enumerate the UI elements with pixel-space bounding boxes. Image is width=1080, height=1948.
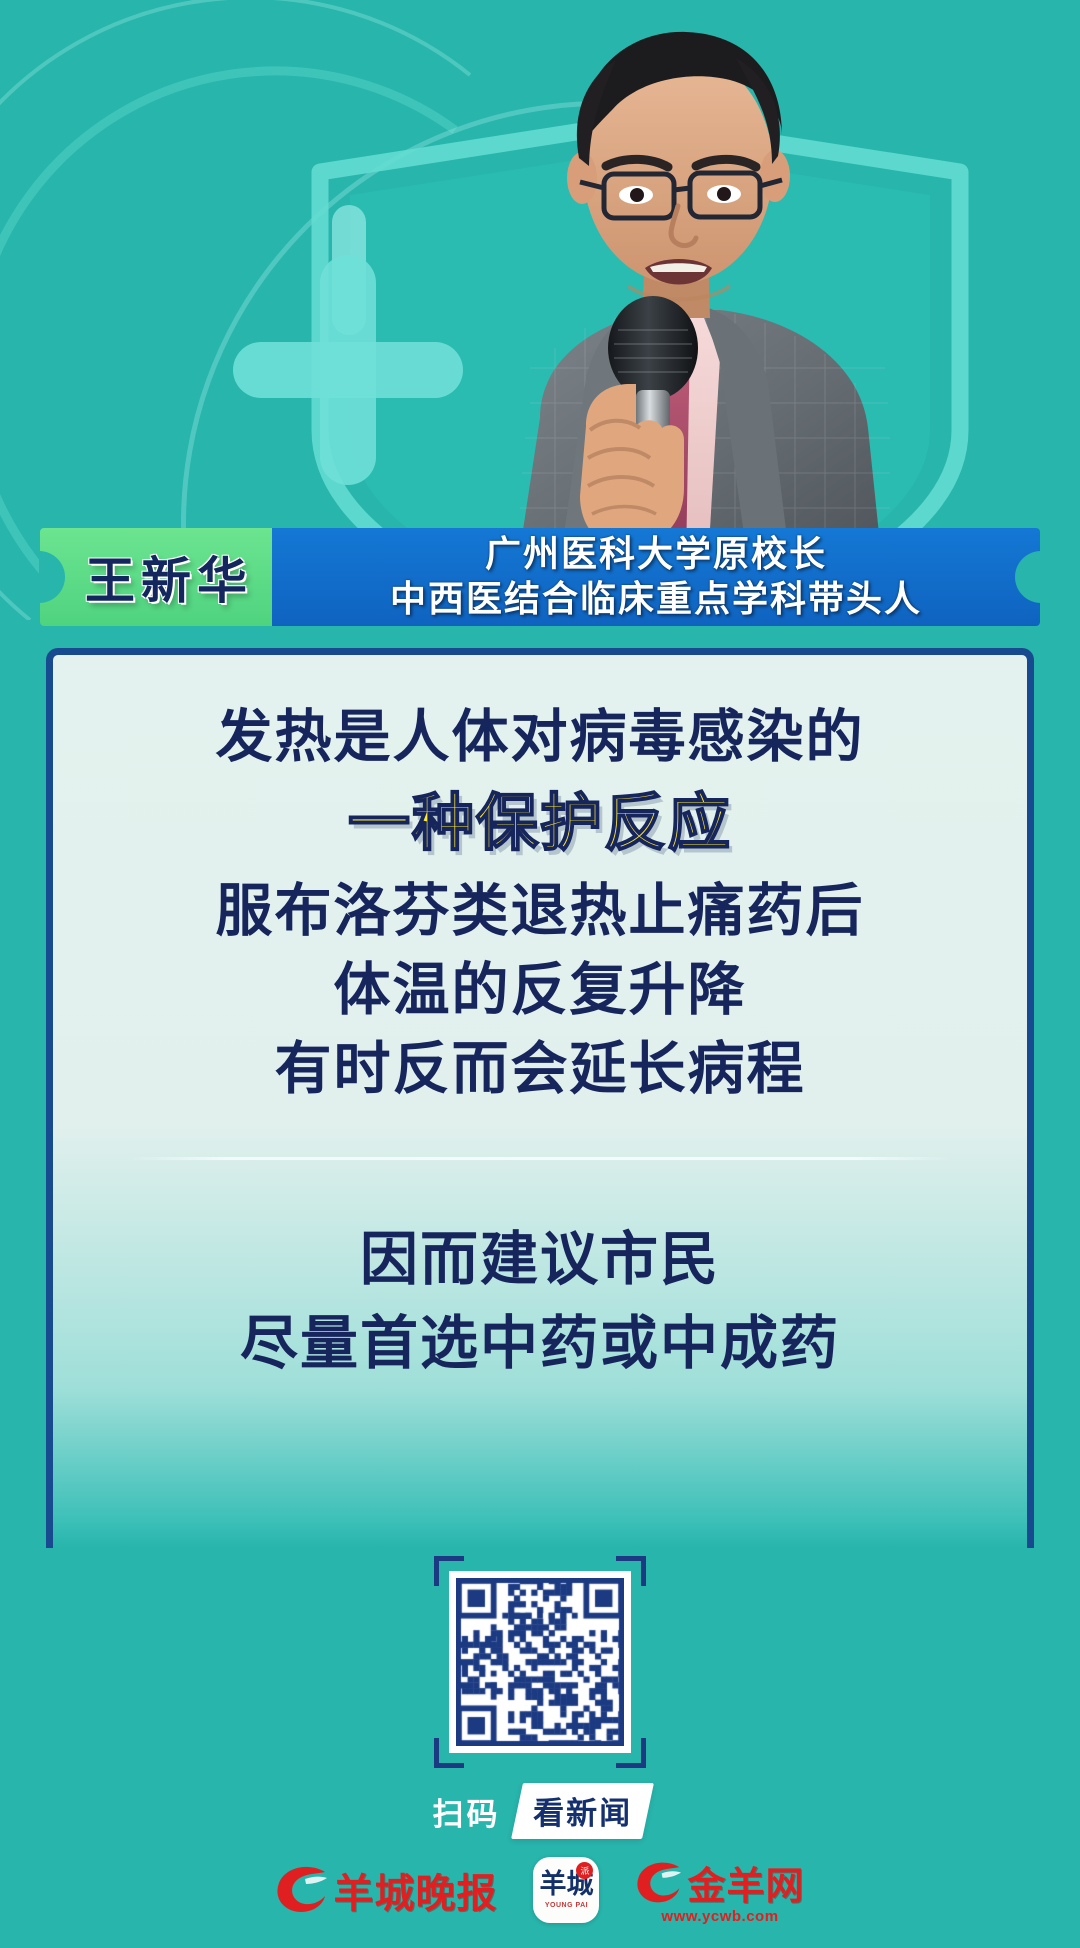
jinyangwang-swoosh-icon <box>635 1861 683 1905</box>
scan-action-tag[interactable]: 看新闻 <box>511 1783 654 1839</box>
scan-action-label: 看新闻 <box>533 1788 632 1833</box>
section-divider <box>129 1157 951 1160</box>
speaker-title-box: 广州医科大学原校长 中西医结合临床重点学科带头人 <box>272 528 1040 626</box>
qr-section <box>0 1556 1080 1773</box>
statement-line-2-highlight: 一种保护反应 <box>93 782 987 868</box>
logo-jinyangwang-url: www.ycwb.com <box>661 1908 778 1925</box>
speaker-title-line-1: 广州医科大学原校长 <box>485 532 827 577</box>
speaker-name-box: 王新华 <box>40 528 272 626</box>
speaker-name: 王新华 <box>59 541 253 613</box>
statement-card: 发热是人体对病毒感染的 一种保护反应 服布洛芬类退热止痛药后 体温的反复升降 有… <box>46 648 1034 1548</box>
qr-frame <box>434 1556 646 1768</box>
statement-line-1: 发热是人体对病毒感染的 <box>93 699 987 778</box>
logo-jinyangwang: 金羊网 www.ycwb.com <box>635 1855 804 1925</box>
qr-code-icon[interactable] <box>449 1571 631 1753</box>
statement-line-3: 服布洛芬类退热止痛药后 <box>93 873 987 952</box>
statement-line-4: 体温的反复升降 <box>93 952 987 1031</box>
logo-row: 羊城晚报 羊城 YOUNG PAI 派 金羊网 www.ycwb.com <box>0 1855 1080 1925</box>
speaker-title-line-2: 中西医结合临床重点学科带头人 <box>390 577 922 622</box>
speaker-banner: 王新华 广州医科大学原校长 中西医结合临床重点学科带头人 <box>40 528 1040 626</box>
statement-line-5: 有时反而会延长病程 <box>93 1031 987 1110</box>
scan-label: 扫码 <box>433 1789 517 1834</box>
ycwb-swoosh-icon <box>275 1865 329 1915</box>
logo-jinyangwang-text: 金羊网 <box>687 1855 804 1910</box>
speaker-portrait <box>390 18 950 560</box>
ycwb-app-icon: 羊城 YOUNG PAI 派 <box>533 1857 599 1923</box>
conclusion-line-2: 尽量首选中药或中成药 <box>93 1302 987 1386</box>
hero-section <box>0 0 1080 560</box>
logo-ycwb-app-subtitle: YOUNG PAI <box>545 1902 588 1909</box>
logo-ycwb-newspaper: 羊城晚报 <box>275 1861 497 1919</box>
poster-root: 王新华 广州医科大学原校长 中西医结合临床重点学科带头人 发热是人体对病毒感染的… <box>0 0 1080 1948</box>
scan-caption: 扫码 看新闻 <box>0 1783 1080 1839</box>
conclusion-block: 因而建议市民 尽量首选中药或中成药 <box>93 1218 987 1386</box>
conclusion-line-1: 因而建议市民 <box>93 1218 987 1302</box>
logo-ycwb-newspaper-text: 羊城晚报 <box>333 1861 497 1919</box>
logo-ycwb-app[interactable]: 羊城 YOUNG PAI 派 <box>533 1857 599 1923</box>
